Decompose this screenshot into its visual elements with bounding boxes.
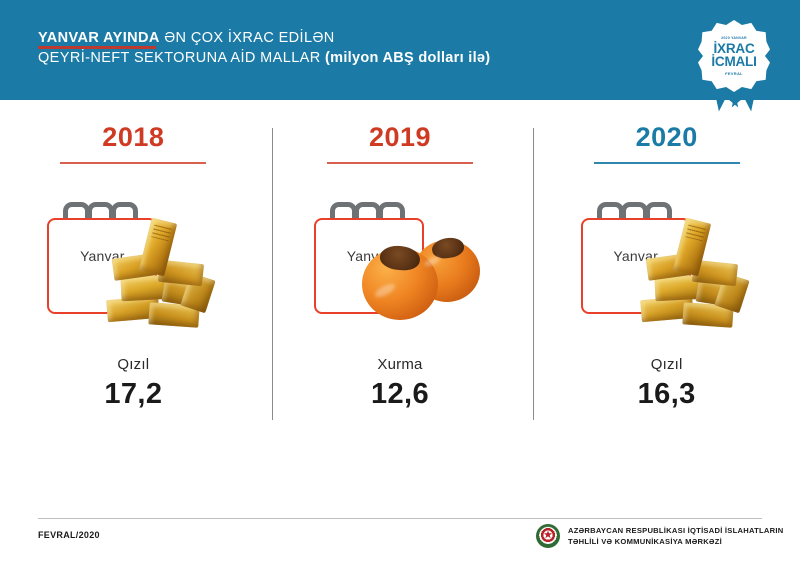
panel-2018-value: 17,2 (104, 378, 162, 411)
footer-organization: AZƏRBAYCAN RESPUBLİKASI İQTİSADİ İSLAHAT… (536, 524, 783, 548)
panel-2020-year-rule (594, 162, 740, 164)
header-band: YANVAR AYINDA ƏN ÇOX İXRAC EDİLƏN QEYRİ-… (0, 0, 800, 100)
header-title-underline (38, 46, 156, 49)
badge-line-1: İXRAC (713, 42, 754, 56)
badge-tiny-bottom-text: FEVRAL (725, 71, 743, 76)
panel-2019-value: 12,6 (371, 378, 429, 411)
gold-bar-stamp (685, 224, 706, 241)
header-subtitle-regular: QEYRİ-NEFT SEKTORUNA AİD MALLAR (38, 50, 325, 66)
panel-2020-caption: Qızıl 16,3 (638, 356, 696, 411)
panel-2018-illustration: Yanvar (33, 186, 233, 346)
panels-container: 2018 Yanvar Qızıl 1 (0, 100, 800, 490)
header-title-block: YANVAR AYINDA ƏN ÇOX İXRAC EDİLƏN QEYRİ-… (38, 28, 490, 69)
panel-2019-caption: Xurma 12,6 (371, 356, 429, 411)
gold-bar-stamp (152, 224, 173, 241)
header-title-rest: ƏN ÇOX İXRAC EDİLƏN (160, 30, 335, 46)
azerbaijan-emblem-icon (536, 524, 560, 548)
panel-2020-value: 16,3 (638, 378, 696, 411)
panel-2020-item-name: Qızıl (638, 356, 696, 373)
panel-2018-year-rule (60, 162, 206, 164)
gold-bars-icon (635, 220, 753, 332)
panel-2018-caption: Qızıl 17,2 (104, 356, 162, 411)
badge-line-2: İCMALI (711, 55, 756, 69)
panel-2020-illustration: Yanvar (567, 186, 767, 346)
panel-2019-year: 2019 (369, 122, 431, 153)
gold-bars-icon (101, 220, 219, 332)
badge-rosette-icon: 2020 YANVAR İXRAC İCMALI FEVRAL (698, 20, 770, 92)
panel-2020-year: 2020 (636, 122, 698, 153)
panel-2019-year-rule (327, 162, 473, 164)
header-title-emphasis-text: YANVAR AYINDA (38, 30, 160, 46)
panel-2020: 2020 Yanvar Qızıl 1 (533, 100, 800, 490)
panel-2018: 2018 Yanvar Qızıl 1 (0, 100, 267, 490)
panel-2018-item-name: Qızıl (104, 356, 162, 373)
header-title-line-1: YANVAR AYINDA ƏN ÇOX İXRAC EDİLƏN (38, 28, 490, 48)
header-title-emphasis: YANVAR AYINDA (38, 29, 160, 48)
footer-org-text: AZƏRBAYCAN RESPUBLİKASI İQTİSADİ İSLAHAT… (568, 525, 783, 547)
panel-2019: 2019 Yanvar Xurma 12,6 (267, 100, 534, 490)
header-subtitle-bold: (milyon ABŞ dolları ilə) (325, 50, 490, 66)
persimmon-icon (358, 226, 488, 336)
footer-divider (38, 518, 762, 519)
footer-org-line-2: TƏHLİLİ VƏ KOMMUNİKASİYA MƏRKƏZİ (568, 536, 783, 547)
panel-2018-year: 2018 (102, 122, 164, 153)
footer-org-line-1: AZƏRBAYCAN RESPUBLİKASI İQTİSADİ İSLAHAT… (568, 525, 783, 536)
footer-date: FEVRAL/2020 (38, 530, 100, 540)
infographic-page: { "header": { "title_bold": "YANVAR AYIN… (0, 0, 800, 566)
header-title-line-2: QEYRİ-NEFT SEKTORUNA AİD MALLAR (milyon … (38, 48, 490, 68)
panel-2019-item-name: Xurma (371, 356, 429, 373)
panel-2019-illustration: Yanvar (300, 186, 500, 346)
